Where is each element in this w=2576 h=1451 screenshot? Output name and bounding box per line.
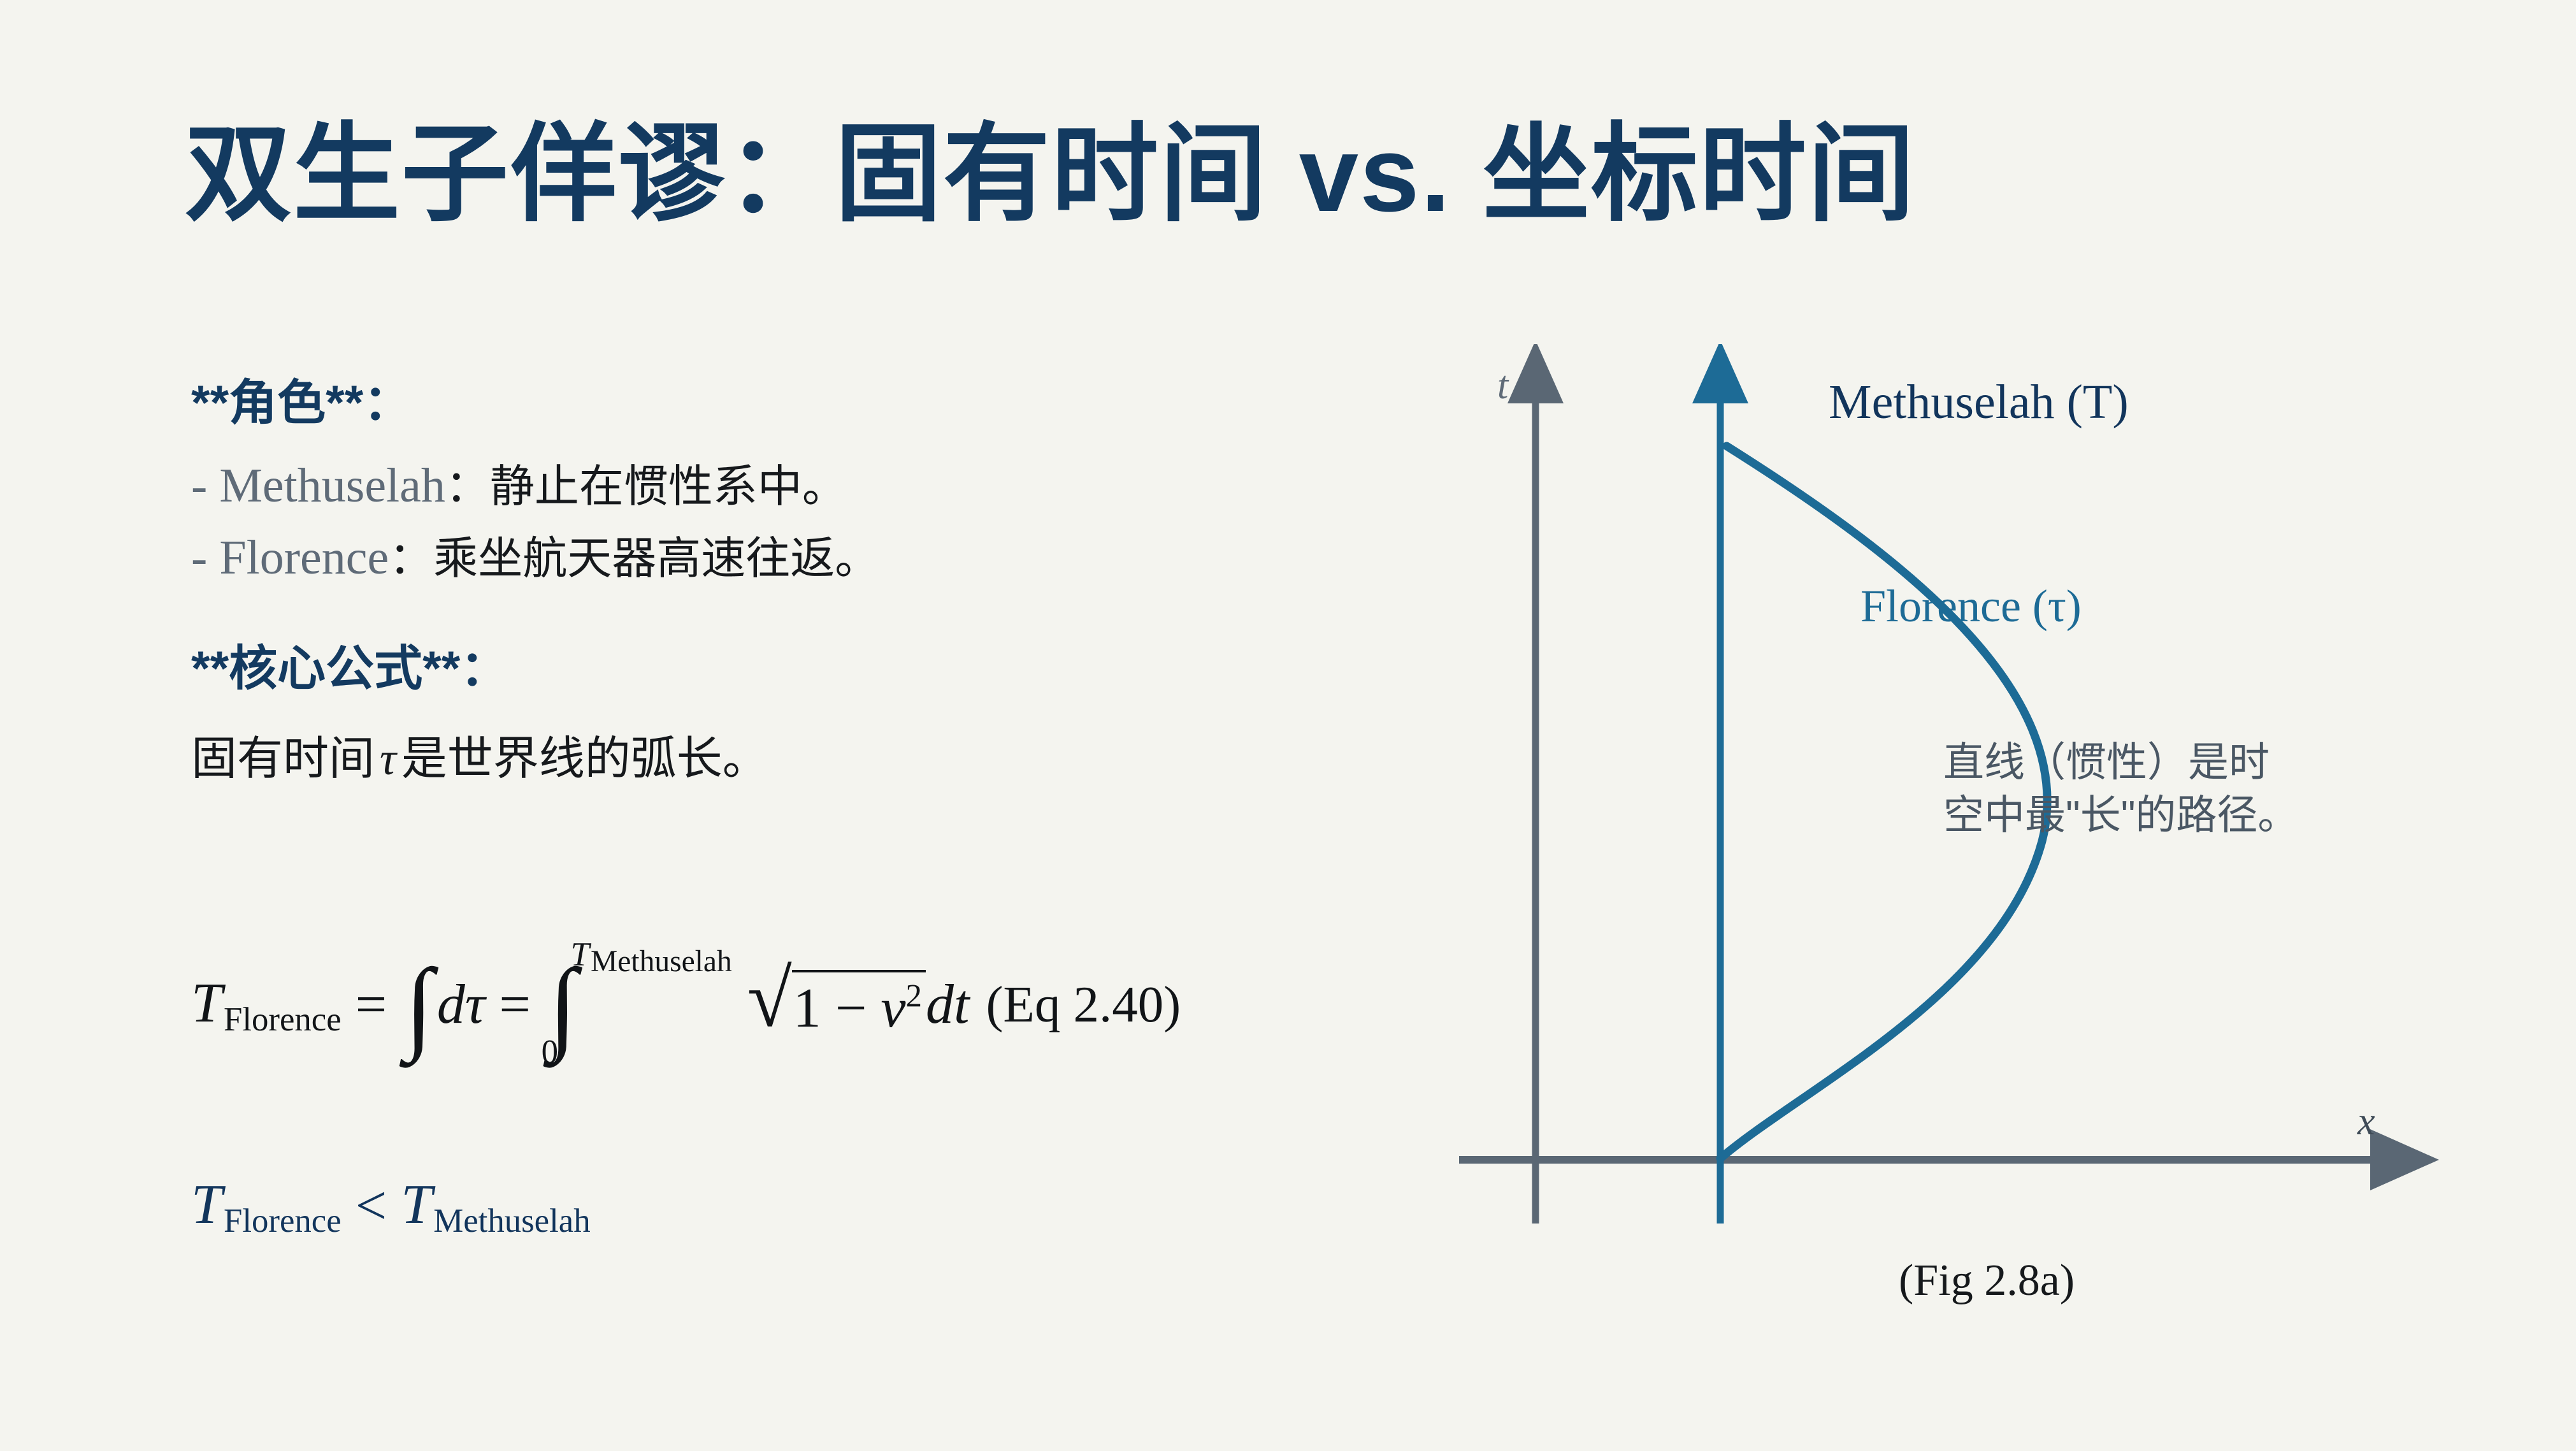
equation-proper-time: TFlorence = ∫ dτ = ∫ TMethuselah 0 √ 1 −… bbox=[191, 969, 1181, 1041]
t-axis-label: t bbox=[1497, 363, 1508, 408]
role-colon: ： bbox=[445, 461, 490, 511]
florence-label: Florence (τ) bbox=[1860, 580, 2082, 633]
page-title: 双生子佯谬：固有时间 vs. 坐标时间 bbox=[185, 118, 2415, 230]
list-item: - Florence：乘坐航天器高速往返。 bbox=[191, 527, 1402, 589]
role-name-florence: Florence bbox=[219, 531, 389, 584]
role-colon: ： bbox=[389, 533, 433, 583]
integral-sign-1: ∫ bbox=[401, 978, 437, 1035]
tau-symbol: τ bbox=[375, 733, 401, 784]
d-tau-term: dτ bbox=[437, 972, 486, 1037]
x-axis-label: x bbox=[2357, 1099, 2375, 1144]
list-item: - Methuselah：静止在惯性系中。 bbox=[191, 455, 1402, 517]
equation-time-comparison: TFlorence < TMethuselah bbox=[191, 1173, 591, 1240]
dt-term: dt bbox=[926, 972, 969, 1037]
compare-lhs: TFlorence bbox=[191, 1173, 342, 1240]
square-root-term: √ 1 − v2 bbox=[747, 969, 926, 1040]
formula-intro-prefix: 固有时间 bbox=[191, 733, 375, 784]
role-name-methuselah: Methuselah bbox=[219, 459, 445, 512]
figure-caption: (Fig 2.8a) bbox=[1899, 1255, 2075, 1306]
integral-upper-limit: TMethuselah bbox=[571, 938, 732, 977]
radical-sign: √ bbox=[747, 965, 792, 1032]
definite-integral: ∫ TMethuselah 0 bbox=[545, 969, 738, 1041]
integral-lower-limit: 0 bbox=[542, 1036, 703, 1069]
equals-sign-2: = bbox=[485, 972, 545, 1037]
compare-rhs: TMethuselah bbox=[401, 1173, 590, 1240]
formula-heading: **核心公式**： bbox=[191, 629, 1402, 699]
integral-sign-2: ∫ bbox=[545, 978, 581, 1035]
role-description: 静止在惯性系中。 bbox=[490, 461, 847, 511]
roles-heading: **角色**： bbox=[191, 363, 1402, 433]
integral-limits: TMethuselah 0 bbox=[575, 969, 736, 1041]
diagram-annotation: 直线（惯性）是时 空中最"长"的路径。 bbox=[1943, 736, 2338, 842]
left-content-column: **角色**： - Methuselah：静止在惯性系中。 - Florence… bbox=[191, 363, 1402, 794]
formula-intro-text: 固有时间τ是世界线的弧长。 bbox=[191, 721, 1402, 788]
spacetime-diagram: t x Methuselah (T) Florence (τ) 直线（惯性）是时… bbox=[1453, 344, 2536, 1396]
role-description: 乘坐航天器高速往返。 bbox=[433, 533, 879, 583]
bullet-dash: - bbox=[191, 459, 219, 512]
methuselah-label: Methuselah (T) bbox=[1829, 375, 2129, 430]
bullet-dash: - bbox=[191, 531, 219, 584]
formula-intro-suffix: 是世界线的弧长。 bbox=[401, 733, 768, 784]
equation-lhs: TFlorence bbox=[191, 971, 342, 1039]
annotation-line-1: 直线（惯性）是时 bbox=[1943, 736, 2338, 789]
less-than-sign: < bbox=[342, 1174, 401, 1238]
radicand: 1 − v2 bbox=[792, 970, 926, 1041]
equation-tag: (Eq 2.40) bbox=[969, 975, 1181, 1034]
annotation-line-2: 空中最"长"的路径。 bbox=[1943, 789, 2338, 842]
equals-sign-1: = bbox=[342, 972, 401, 1037]
